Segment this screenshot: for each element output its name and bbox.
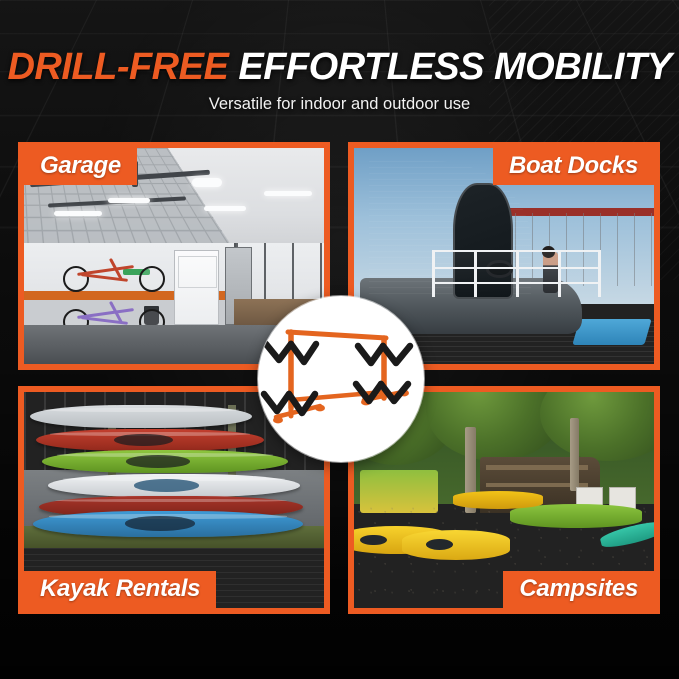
kayak-white-top [30, 405, 252, 428]
subtitle: Versatile for indoor and outdoor use [0, 95, 679, 114]
panel-label-campsites: Campsites [503, 571, 654, 608]
garage-bicycle-upper [63, 256, 165, 295]
product-inset-circle[interactable] [258, 296, 424, 462]
boat-railing-post [474, 250, 477, 298]
boat-railing-post [599, 250, 602, 298]
garage-light [264, 191, 312, 196]
garage-door [174, 250, 219, 326]
headline-main: EFFORTLESS MOBILITY [238, 46, 671, 88]
kayak-yellow-mid [453, 491, 543, 508]
panel-label-boat-docks: Boat Docks [493, 148, 654, 185]
boat-pool [572, 319, 651, 345]
garage-light [204, 206, 246, 211]
kayak-seat [426, 539, 453, 550]
tree-trunk [570, 418, 579, 491]
poster-stage: DRILL-FREE EFFORTLESS MOBILITY Versatile… [0, 0, 679, 679]
kayak-white [48, 474, 300, 497]
garage-light [54, 211, 102, 217]
kayak-yellow-right [402, 530, 510, 560]
kayak-red [36, 429, 264, 452]
garage-light [108, 198, 150, 203]
boat-railing-post [558, 250, 561, 298]
boat-railing-post [516, 250, 519, 298]
rack-j-cradles [264, 344, 410, 413]
garage-light [192, 178, 222, 187]
kayak-green-foreground [510, 504, 642, 528]
kayak-blue [33, 511, 303, 537]
kayak-rack-illustration [258, 296, 424, 462]
panel-label-garage: Garage [24, 148, 137, 185]
boat-railing-post [432, 250, 435, 298]
headline-accent: DRILL-FREE [7, 46, 228, 88]
headline: DRILL-FREE EFFORTLESS MOBILITY [0, 48, 679, 86]
kayak-green [42, 450, 288, 473]
panel-label-kayak-rentals: Kayak Rentals [24, 571, 216, 608]
